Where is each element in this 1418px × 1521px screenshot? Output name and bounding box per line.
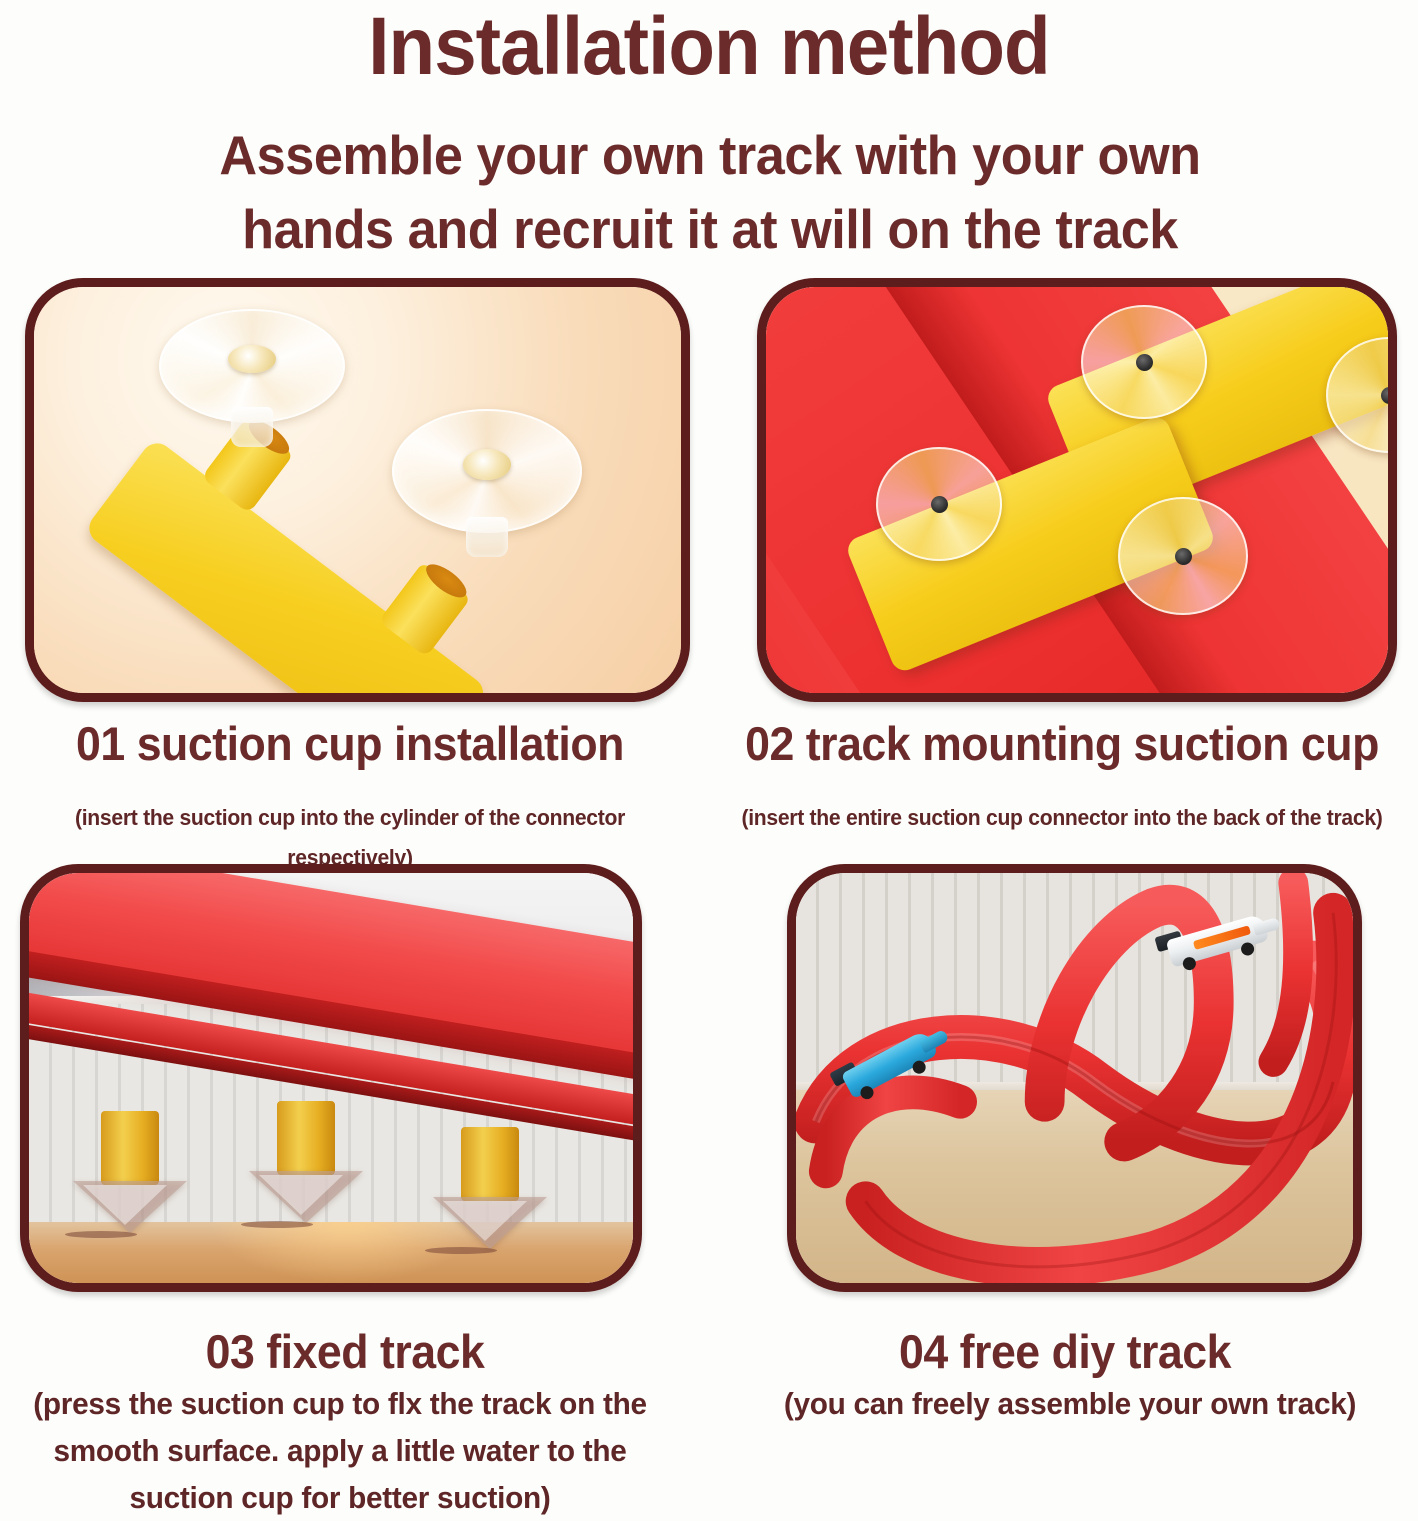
suction-cup-nub xyxy=(228,345,275,374)
step-title-04: 04 free diy track xyxy=(737,1326,1393,1378)
yellow-cylinder xyxy=(101,1111,159,1185)
suction-cup-base xyxy=(241,1221,313,1228)
infographic-page: Installation method Assemble your own tr… xyxy=(0,0,1418,1500)
step-title-01: 01 suction cup installation xyxy=(18,718,683,770)
yellow-cylinder xyxy=(277,1101,335,1175)
suction-cup-base xyxy=(425,1247,497,1254)
suction-cup-stem xyxy=(231,407,273,447)
suction-cup-base xyxy=(65,1231,137,1238)
suction-cup-nub xyxy=(463,449,511,480)
cone-highlight xyxy=(443,1201,527,1241)
suction-cup-3 xyxy=(876,447,1002,561)
suction-cup-1 xyxy=(1081,305,1207,419)
suction-cup-2 xyxy=(392,409,582,533)
suction-cup-1 xyxy=(159,309,345,423)
page-subtitle: Assemble your own track with your own ha… xyxy=(140,118,1280,266)
step-title-02: 02 track mounting suction cup xyxy=(724,718,1400,770)
suction-cup-stem xyxy=(466,517,508,557)
page-title: Installation method xyxy=(50,4,1369,90)
cone-highlight xyxy=(259,1175,343,1215)
step-image-01 xyxy=(25,278,690,702)
step-image-02 xyxy=(757,278,1397,702)
step-image-03 xyxy=(20,864,642,1292)
scene-suction-cup-installation xyxy=(34,287,681,693)
cone-highlight xyxy=(83,1185,167,1225)
step-note-02: (insert the entire suction cup connector… xyxy=(720,798,1404,838)
scene-free-diy-track xyxy=(796,873,1353,1283)
scene-track-mounting-suction-cup xyxy=(766,287,1388,693)
step-image-04 xyxy=(787,864,1362,1292)
suction-cup-4 xyxy=(1118,497,1248,615)
scene-fixed-track xyxy=(29,873,633,1283)
step-title-03: 03 fixed track xyxy=(17,1326,673,1378)
yellow-cylinder xyxy=(461,1127,519,1201)
step-note-04: (you can freely assemble your own track) xyxy=(753,1380,1387,1427)
